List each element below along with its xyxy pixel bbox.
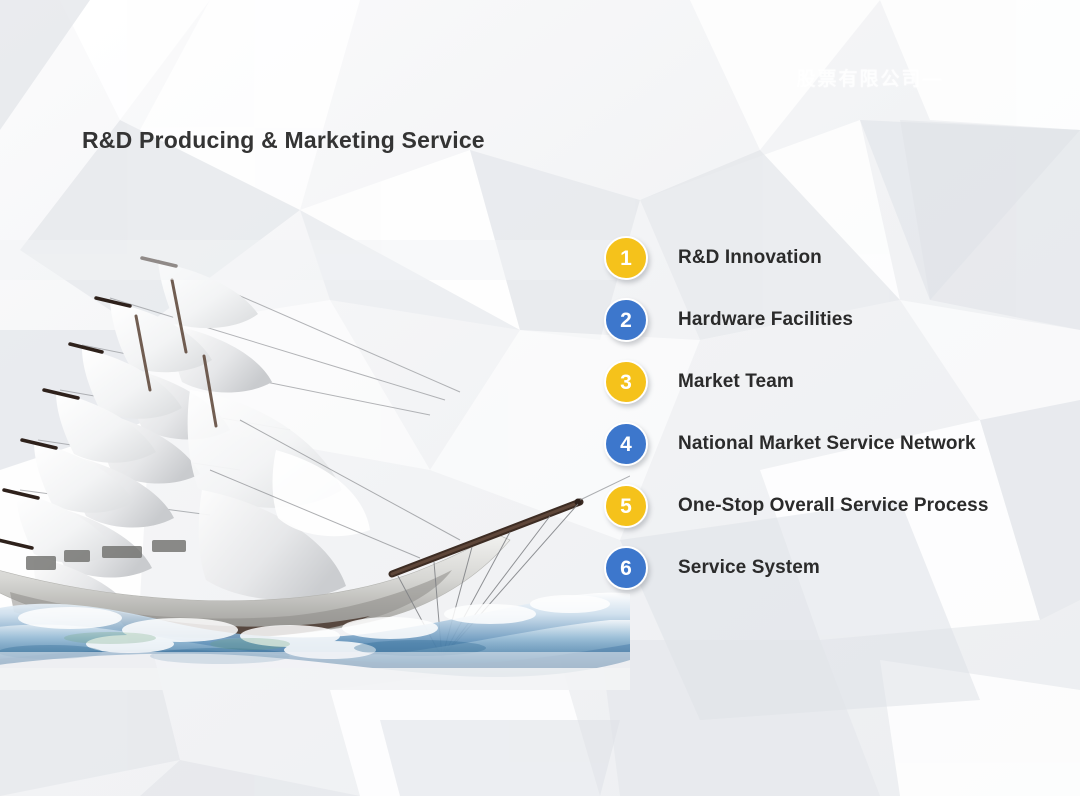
list-item-label: Service System (678, 557, 820, 579)
company-watermark: 股票有限公司— (700, 64, 1040, 91)
list-number-badge: 2 (604, 298, 648, 342)
slide-canvas: 股票有限公司— R&D Producing & Marketing Servic… (0, 0, 1080, 796)
feature-list: 1 R&D Innovation 2 Hardware Facilities 3… (604, 236, 1074, 608)
list-item-label: One-Stop Overall Service Process (678, 495, 989, 517)
sailing-ship-illustration (0, 240, 630, 690)
list-item-label: National Market Service Network (678, 433, 976, 455)
list-number-badge: 6 (604, 546, 648, 590)
list-number-badge: 3 (604, 360, 648, 404)
list-number-badge: 4 (604, 422, 648, 466)
list-item[interactable]: 1 R&D Innovation (604, 236, 1074, 298)
list-item[interactable]: 5 One-Stop Overall Service Process (604, 484, 1074, 546)
page-title: R&D Producing & Marketing Service (82, 127, 485, 154)
list-item[interactable]: 6 Service System (604, 546, 1074, 608)
list-item[interactable]: 4 National Market Service Network (604, 422, 1074, 484)
list-number-badge: 1 (604, 236, 648, 280)
list-item[interactable]: 2 Hardware Facilities (604, 298, 1074, 360)
list-item-label: Hardware Facilities (678, 309, 853, 331)
list-item-label: Market Team (678, 371, 794, 393)
list-number-badge: 5 (604, 484, 648, 528)
list-item[interactable]: 3 Market Team (604, 360, 1074, 422)
list-item-label: R&D Innovation (678, 247, 822, 269)
